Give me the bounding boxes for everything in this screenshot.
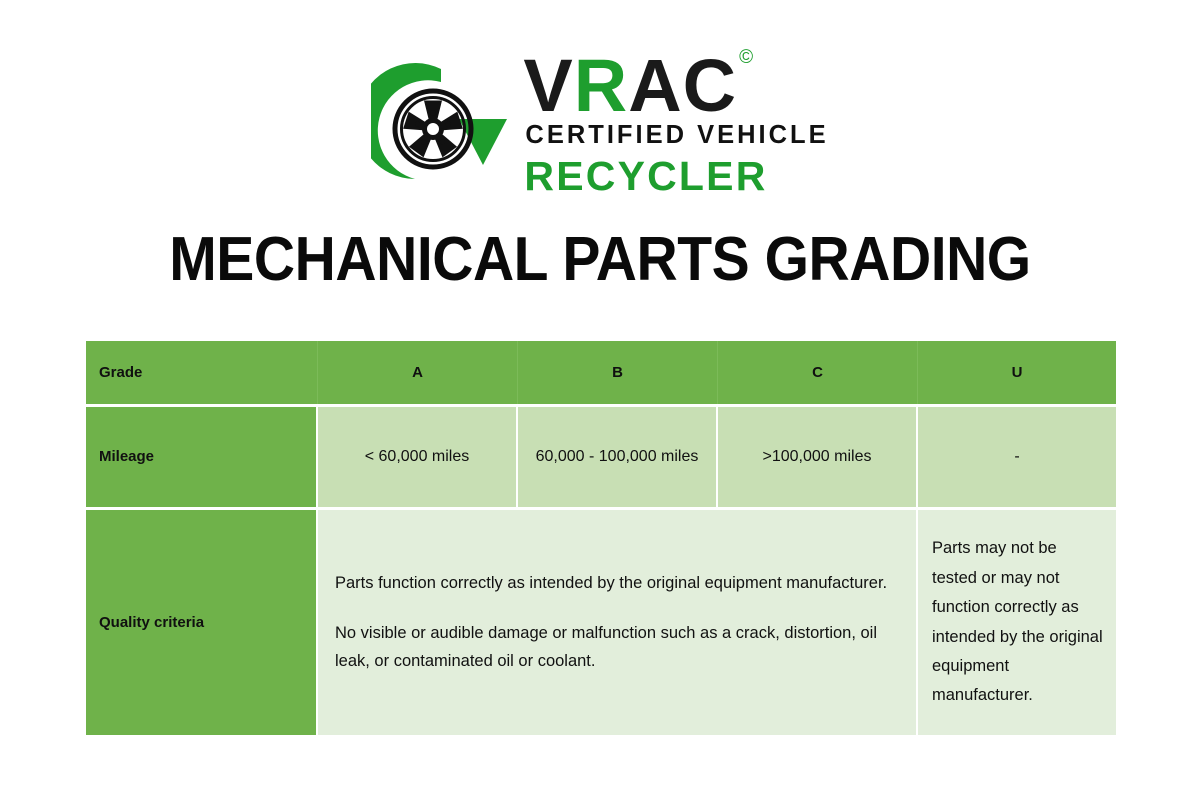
mileage-cell-c: >100,000 miles [718,404,918,507]
recycling-wheel-logo-icon [371,61,511,193]
row-label-quality-criteria: Quality criteria [86,507,318,735]
quality-u-paragraph: Parts may not be tested or may not funct… [932,534,1104,710]
header-cell-b: B [518,341,718,404]
brand-tagline-recycler: RECYCLER [524,153,828,200]
brand-letter-r: R [574,44,628,127]
mileage-cell-a: < 60,000 miles [318,404,518,507]
table-row-mileage: Mileage < 60,000 miles 60,000 - 100,000 … [86,404,1116,507]
brand-letter-v: V [523,44,573,127]
header-cell-c: C [718,341,918,404]
header-cell-a: A [318,341,518,404]
header-cell-grade: Grade [86,341,318,404]
quality-cell-abc: Parts function correctly as intended by … [318,507,918,735]
quality-cell-u: Parts may not be tested or may not funct… [918,507,1116,735]
quality-paragraph-2: No visible or audible damage or malfunct… [335,619,902,676]
table-row-quality-criteria: Quality criteria Parts function correctl… [86,507,1116,735]
header-cell-u: U [918,341,1116,404]
page-title: MECHANICAL PARTS GRADING [48,224,1152,295]
brand-letters-ac: AC [628,44,737,127]
brand-name-vrac: VRAC© [523,56,828,117]
mechanical-parts-grading-table: Grade A B C U Mileage < 60,000 miles 60,… [86,341,1116,735]
quality-paragraph-1: Parts function correctly as intended by … [335,569,902,597]
mileage-cell-b: 60,000 - 100,000 miles [518,404,718,507]
logo-inner: VRAC© CERTIFIED VEHICLE RECYCLER [371,54,828,201]
copyright-icon: © [739,47,753,68]
brand-logo: VRAC© CERTIFIED VEHICLE RECYCLER [0,52,1200,202]
logo-wordmark: VRAC© CERTIFIED VEHICLE RECYCLER [523,54,828,201]
mileage-cell-u: - [918,404,1116,507]
row-label-mileage: Mileage [86,404,318,507]
table-header-row: Grade A B C U [86,341,1116,404]
